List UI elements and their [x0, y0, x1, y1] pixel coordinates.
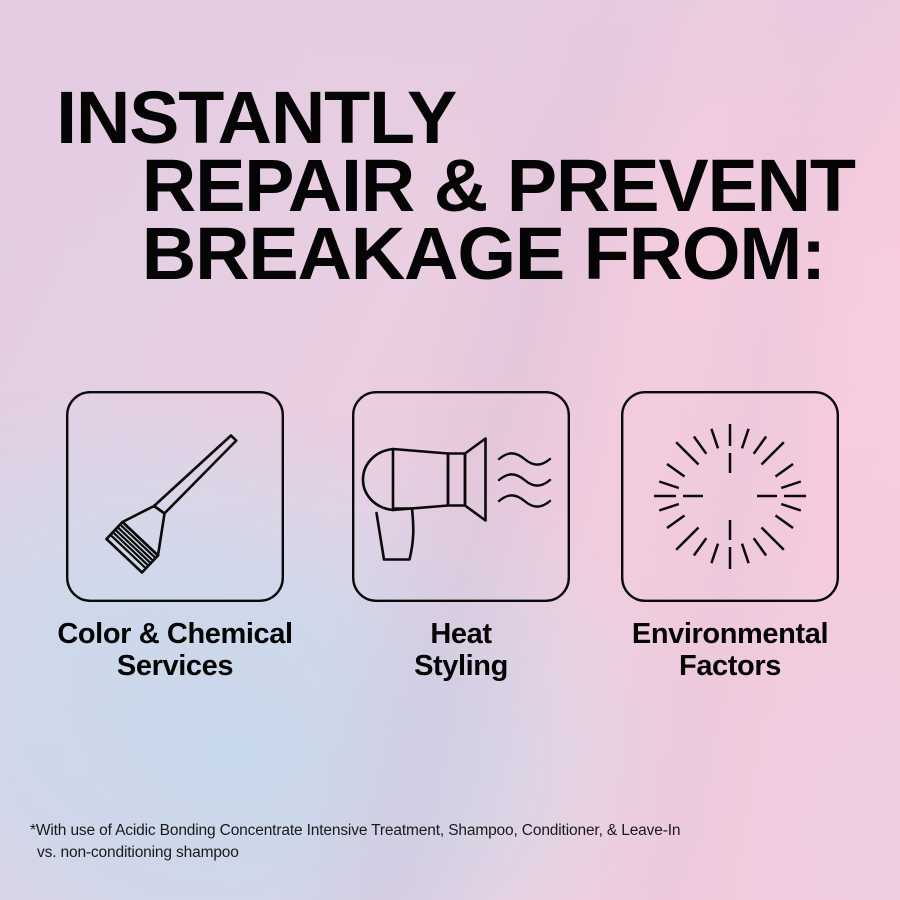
dryer-glyph: [363, 439, 550, 560]
icon-card-environmental: [621, 391, 839, 602]
caption-heat-styling-line-2: Styling: [350, 650, 572, 682]
caption-environmental-line-2: Factors: [600, 650, 860, 682]
caption-color-chemical-line-2: Services: [20, 650, 330, 682]
hair-color-brush-icon: [66, 391, 284, 602]
footnote-disclaimer: *With use of Acidic Bonding Concentrate …: [30, 820, 870, 864]
icon-row: [0, 391, 900, 606]
promo-poster: INSTANTLY REPAIR & PREVENT BREAKAGE FROM…: [0, 0, 900, 900]
caption-color-chemical: Color & Chemical Services: [20, 618, 330, 682]
hair-dryer-icon: [352, 391, 570, 602]
footnote-line-1: *With use of Acidic Bonding Concentrate …: [30, 820, 870, 842]
caption-heat-styling: Heat Styling: [350, 618, 572, 682]
brush-glyph: [107, 436, 237, 573]
caption-heat-styling-line-1: Heat: [350, 618, 572, 650]
card-border: [353, 392, 569, 601]
footnote-line-2: vs. non-conditioning shampoo: [30, 842, 870, 864]
icon-card-heat-styling: [352, 391, 570, 602]
headline-line-1: INSTANTLY: [56, 84, 900, 152]
caption-environmental: Environmental Factors: [600, 618, 860, 682]
card-border: [67, 392, 283, 601]
sunburst-rays: [654, 424, 806, 569]
icon-card-color-chemical: [66, 391, 284, 602]
headline-line-2: REPAIR & PREVENT: [142, 152, 900, 220]
caption-color-chemical-line-1: Color & Chemical: [20, 618, 330, 650]
caption-row: Color & Chemical Services Heat Styling E…: [0, 618, 900, 710]
sun-rays-icon: [621, 391, 839, 602]
headline-line-3: BREAKAGE FROM:: [142, 220, 900, 288]
headline: INSTANTLY REPAIR & PREVENT BREAKAGE FROM…: [0, 84, 900, 288]
caption-environmental-line-1: Environmental: [600, 618, 860, 650]
